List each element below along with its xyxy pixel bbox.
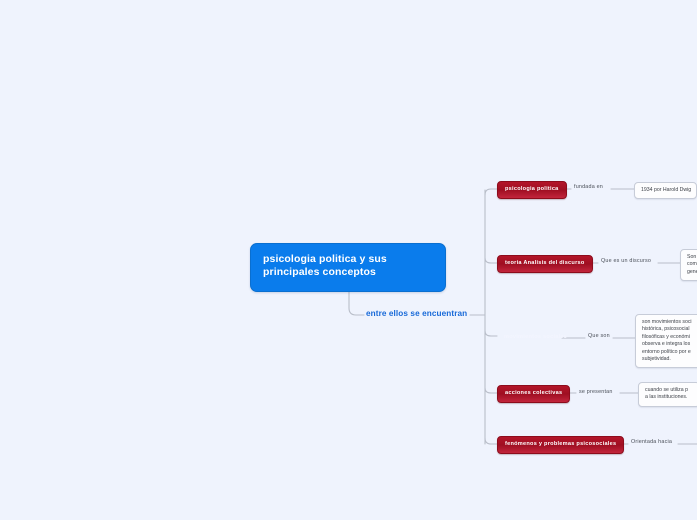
root-node-line-1: psicologia politica y sus [263, 253, 433, 266]
edge-label-se-presentan: se presentan [579, 390, 613, 395]
leaf-line-2: com [687, 261, 697, 268]
edge-label-fundada-en: fundada en [574, 185, 603, 190]
mindmap-canvas[interactable]: psicologia politica y sus principales co… [0, 0, 697, 520]
edge-label-root: entre ellos se encuentran [366, 310, 467, 318]
leaf-line-1: Son [687, 254, 697, 261]
leaf-line-3: filosóficas y económi [642, 334, 697, 341]
leaf-line-1: son movimientos soci [642, 319, 697, 326]
root-node[interactable]: psicologia politica y sus principales co… [250, 243, 446, 292]
leaf-node-discurso-definicion[interactable]: Son com gene [680, 249, 697, 281]
leaf-line-5: entorno político por e [642, 349, 697, 356]
leaf-line-3: gene [687, 269, 697, 276]
leaf-line-6: subjetividad. [642, 356, 697, 363]
branch-node-acciones-colectivas[interactable]: acciones colectivas [497, 385, 570, 403]
branch-node-teoria-analisis-discurso[interactable]: teoria Analisis del discurso [497, 255, 593, 273]
edge-label-orientada-hacia: Orientada hacia [631, 440, 672, 445]
edge-label-que-es-un-discurso: Que es un discurso [601, 259, 651, 264]
leaf-line-1: cuando se utiliza p [645, 387, 694, 394]
leaf-line-4: observa e integra los [642, 341, 697, 348]
root-node-line-2: principales conceptos [263, 266, 433, 279]
branch-node-psicologia-politica[interactable]: psicologia politica [497, 181, 567, 199]
branch-node-fenomenos-problemas-psicosociales[interactable]: fenómenos y problemas psicosociales [497, 436, 624, 454]
branch-node-movimientos-sociales[interactable]: movimientos sociales [497, 330, 574, 346]
leaf-node-acciones-colectivas-detalle[interactable]: cuando se utiliza p a las instituciones. [638, 382, 697, 407]
edge-label-que-son: Que son [588, 334, 610, 339]
leaf-line-2: histórica, psicosocial [642, 326, 697, 333]
leaf-node-harold-dwight[interactable]: 1934 por Harold Dwig [634, 182, 697, 199]
leaf-line-2: a las instituciones. [645, 394, 694, 401]
leaf-node-movimientos-sociales-definicion[interactable]: son movimientos soci histórica, psicosoc… [635, 314, 697, 368]
